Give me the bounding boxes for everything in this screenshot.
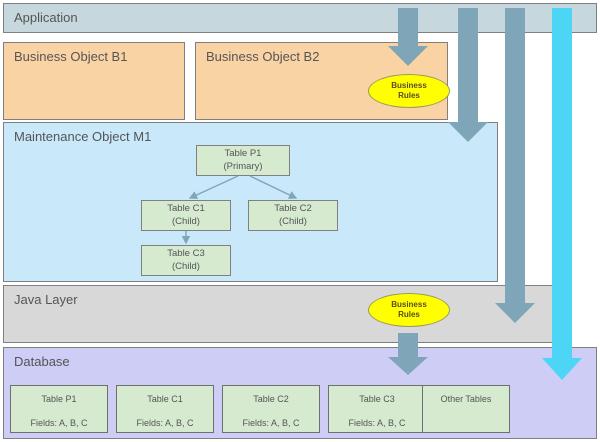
mo-table-p1: Table P1 (Primary) bbox=[196, 145, 290, 176]
mo-table-c3: Table C3 (Child) bbox=[141, 245, 231, 276]
business-object-b2-label: Business Object B2 bbox=[206, 49, 319, 64]
arrow-app-to-java-layer bbox=[495, 8, 535, 323]
business-object-b1-box: Business Object B1 bbox=[3, 42, 185, 120]
db-table-c3-fields: Fields: A, B, C bbox=[329, 418, 425, 428]
mo-table-c1: Table C1 (Child) bbox=[141, 200, 231, 231]
business-object-b1-label: Business Object B1 bbox=[14, 49, 127, 64]
architecture-diagram: Application Business Object B1 Business … bbox=[0, 0, 600, 442]
db-table-c1-fields: Fields: A, B, C bbox=[117, 418, 213, 428]
application-label: Application bbox=[14, 10, 78, 25]
application-band: Application bbox=[3, 3, 597, 33]
mo-table-c2-role: (Child) bbox=[279, 216, 307, 229]
business-rules-ellipse-business-object: Business Rules bbox=[368, 74, 450, 108]
mo-table-c3-role: (Child) bbox=[172, 261, 200, 274]
business-rules-line-2: Rules bbox=[398, 91, 420, 101]
mo-table-c2-name: Table C2 bbox=[274, 203, 312, 216]
db-table-other: Other Tables bbox=[422, 385, 510, 433]
mo-table-p1-role: (Primary) bbox=[223, 161, 262, 174]
db-table-p1-name: Table P1 bbox=[11, 394, 107, 404]
db-table-c1: Table C1 Fields: A, B, C bbox=[116, 385, 214, 433]
db-table-c3-name: Table C3 bbox=[329, 394, 425, 404]
mo-table-c2: Table C2 (Child) bbox=[248, 200, 338, 231]
database-label: Database bbox=[14, 354, 70, 369]
java-layer-band: Java Layer bbox=[3, 285, 555, 343]
mo-table-p1-name: Table P1 bbox=[225, 148, 262, 161]
db-table-p1: Table P1 Fields: A, B, C bbox=[10, 385, 108, 433]
mo-table-c1-role: (Child) bbox=[172, 216, 200, 229]
db-table-c3: Table C3 Fields: A, B, C bbox=[328, 385, 426, 433]
business-rules-java-line-1: Business bbox=[391, 300, 427, 310]
db-table-c1-name: Table C1 bbox=[117, 394, 213, 404]
business-rules-ellipse-java-layer: Business Rules bbox=[368, 293, 450, 327]
java-layer-label: Java Layer bbox=[14, 292, 78, 307]
business-rules-java-line-2: Rules bbox=[398, 310, 420, 320]
db-table-c2-fields: Fields: A, B, C bbox=[223, 418, 319, 428]
mo-table-c3-name: Table C3 bbox=[167, 248, 205, 261]
mo-table-c1-name: Table C1 bbox=[167, 203, 205, 216]
db-table-c2: Table C2 Fields: A, B, C bbox=[222, 385, 320, 433]
maintenance-object-m1-label: Maintenance Object M1 bbox=[14, 129, 151, 144]
db-table-c2-name: Table C2 bbox=[223, 394, 319, 404]
business-rules-line-1: Business bbox=[391, 81, 427, 91]
db-table-other-name: Other Tables bbox=[423, 394, 509, 404]
db-table-p1-fields: Fields: A, B, C bbox=[11, 418, 107, 428]
